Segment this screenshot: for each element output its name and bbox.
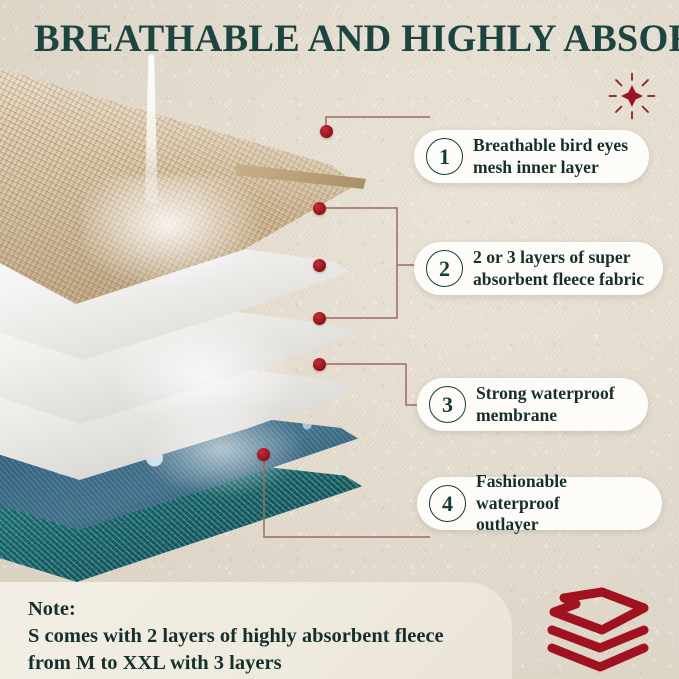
layer-marker-3 xyxy=(313,358,326,371)
callout-2-number: 2 xyxy=(426,250,463,287)
layer-marker-2b xyxy=(313,259,326,272)
callout-4-number: 4 xyxy=(429,485,466,522)
callout-1-label: Breathable bird eyes mesh inner layer xyxy=(473,135,628,178)
layer-marker-4 xyxy=(257,448,270,461)
callout-2-label: 2 or 3 layers of super absorbent fleece … xyxy=(473,247,644,290)
layered-stack-icon xyxy=(546,586,650,674)
infographic-canvas: BREATHABLE AND HIGHLY ABSORBENT xyxy=(0,0,679,679)
layer-marker-2c xyxy=(313,312,326,325)
callout-2[interactable]: 2 2 or 3 layers of super absorbent fleec… xyxy=(414,242,663,295)
callout-1[interactable]: 1 Breathable bird eyes mesh inner layer xyxy=(414,130,649,183)
callout-1-number: 1 xyxy=(426,138,463,175)
note-text: Note: S comes with 2 layers of highly ab… xyxy=(28,596,498,677)
callout-3-label: Strong waterproof membrane xyxy=(476,383,615,426)
layer-marker-2a xyxy=(313,202,326,215)
callout-4[interactable]: 4 Fashionable waterproof outlayer xyxy=(417,477,662,530)
page-title: BREATHABLE AND HIGHLY ABSORBENT xyxy=(34,16,639,62)
callout-4-label: Fashionable waterproof outlayer xyxy=(476,471,644,536)
water-splash-upper xyxy=(82,176,272,296)
sparkle-star-icon xyxy=(608,72,656,120)
layer-marker-1 xyxy=(320,125,333,138)
callout-3-number: 3 xyxy=(429,386,466,423)
callout-3[interactable]: 3 Strong waterproof membrane xyxy=(417,378,648,431)
